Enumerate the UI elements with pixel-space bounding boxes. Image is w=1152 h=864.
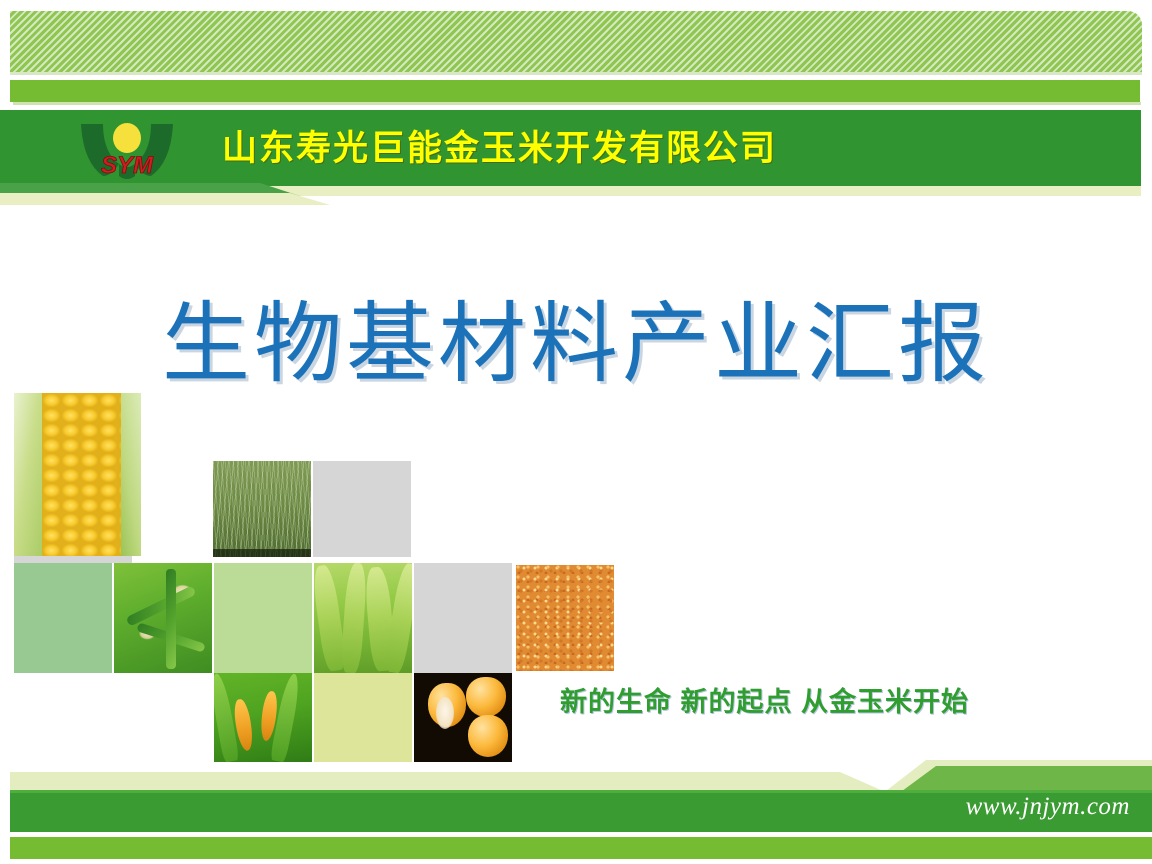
slide-tagline: 新的生命 新的起点 从金玉米开始 — [560, 680, 1150, 719]
corn-leaves-photo — [314, 563, 412, 673]
slide-title: 生物基材料产业汇报 — [0, 292, 1152, 396]
top-light-green-bar-shadow — [13, 102, 1141, 105]
green-swatch-1 — [14, 563, 112, 673]
corn-leaf-blade — [126, 585, 197, 626]
corn-stem — [166, 569, 176, 669]
header-notch-pale — [0, 193, 330, 205]
corn-cob-photo — [14, 393, 141, 556]
presentation-slide: SYM 山东寿光巨能金玉米开发有限公司 生物基材料产业汇报 — [0, 0, 1152, 864]
company-name: 山东寿光巨能金玉米开发有限公司 — [222, 126, 777, 172]
corn-kernel-macro — [414, 673, 512, 762]
corn-husk-right — [121, 393, 141, 556]
corn-field-photo-caption-strip — [213, 549, 311, 557]
top-hatched-band — [10, 11, 1142, 73]
corn-kernel — [466, 677, 506, 717]
website-url[interactable]: www.jnjym.com — [966, 793, 1130, 821]
corn-kernel — [468, 715, 508, 757]
top-hatched-band-shadow — [10, 72, 1142, 75]
grey-placeholder-2 — [414, 563, 512, 673]
corn-leaf — [340, 563, 368, 673]
green-swatch-2 — [214, 563, 312, 673]
company-logo: SYM — [73, 118, 181, 184]
corn-kernels-texture — [42, 393, 121, 556]
corn-husk-left — [14, 393, 44, 556]
footer-light-green-bar — [10, 837, 1152, 859]
corn-grain-photo — [516, 565, 614, 671]
svg-text:SYM: SYM — [101, 152, 154, 179]
corn-tassel-photo — [114, 563, 212, 673]
corn-harvest-photo — [214, 673, 312, 762]
corn-kernel-highlight — [436, 697, 454, 729]
grey-placeholder-1 — [313, 461, 411, 557]
corn-field-photo — [213, 461, 311, 557]
top-light-green-bar — [10, 80, 1140, 102]
yellow-swatch-1 — [314, 673, 412, 762]
